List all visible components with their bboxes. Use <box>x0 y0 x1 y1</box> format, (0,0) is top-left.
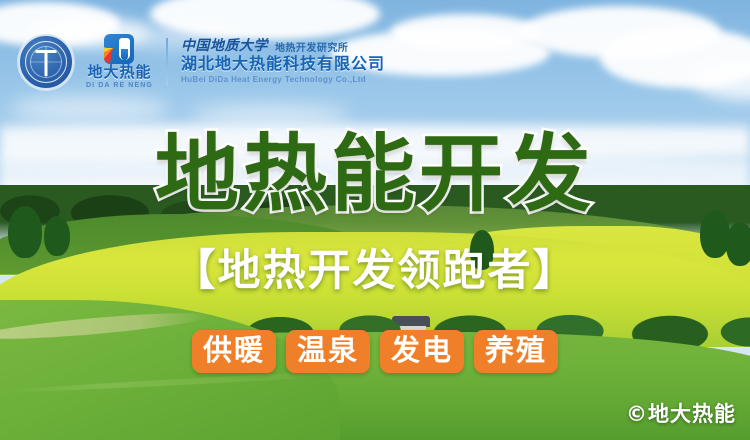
logo-swoosh-shape <box>119 38 130 60</box>
university-name: 中国地质大学 <box>181 40 268 54</box>
copyright-watermark: ©地大热能 <box>626 398 736 428</box>
company-name-cn: 湖北地大热能科技有限公司 <box>181 57 385 73</box>
page-subtitle: 【地热开发领跑者】 <box>0 248 750 294</box>
brand-name-pinyin: DI DA RE NENG <box>86 81 153 90</box>
geothermal-promo-banner: 地大热能 DI DA RE NENG 中国地质大学 地热开发研究所 湖北地大热能… <box>0 0 750 440</box>
organization-text-block: 中国地质大学 地热开发研究所 湖北地大热能科技有限公司 HuBei DiDa H… <box>181 40 385 84</box>
university-row: 中国地质大学 地热开发研究所 <box>181 40 385 54</box>
page-title: 地热能开发 <box>0 132 750 216</box>
service-tag-list: 供暖 温泉 发电 养殖 <box>0 330 750 373</box>
company-name-en: HuBei DiDa Heat Energy Technology Co.,Lt… <box>181 76 385 84</box>
service-tag[interactable]: 养殖 <box>474 330 558 373</box>
service-tag[interactable]: 发电 <box>380 330 464 373</box>
header-divider <box>166 38 168 86</box>
institute-name: 地热开发研究所 <box>275 44 349 54</box>
brand-name-cn: 地大热能 <box>86 65 153 81</box>
seal-hammer-symbol <box>45 50 48 76</box>
university-seal-icon <box>18 34 74 90</box>
brand-header: 地大热能 DI DA RE NENG 中国地质大学 地热开发研究所 湖北地大热能… <box>18 28 385 96</box>
dida-rainbow-logo-icon <box>104 34 134 64</box>
company-logo: 地大热能 DI DA RE NENG <box>86 34 153 90</box>
service-tag[interactable]: 温泉 <box>286 330 370 373</box>
service-tag[interactable]: 供暖 <box>192 330 276 373</box>
